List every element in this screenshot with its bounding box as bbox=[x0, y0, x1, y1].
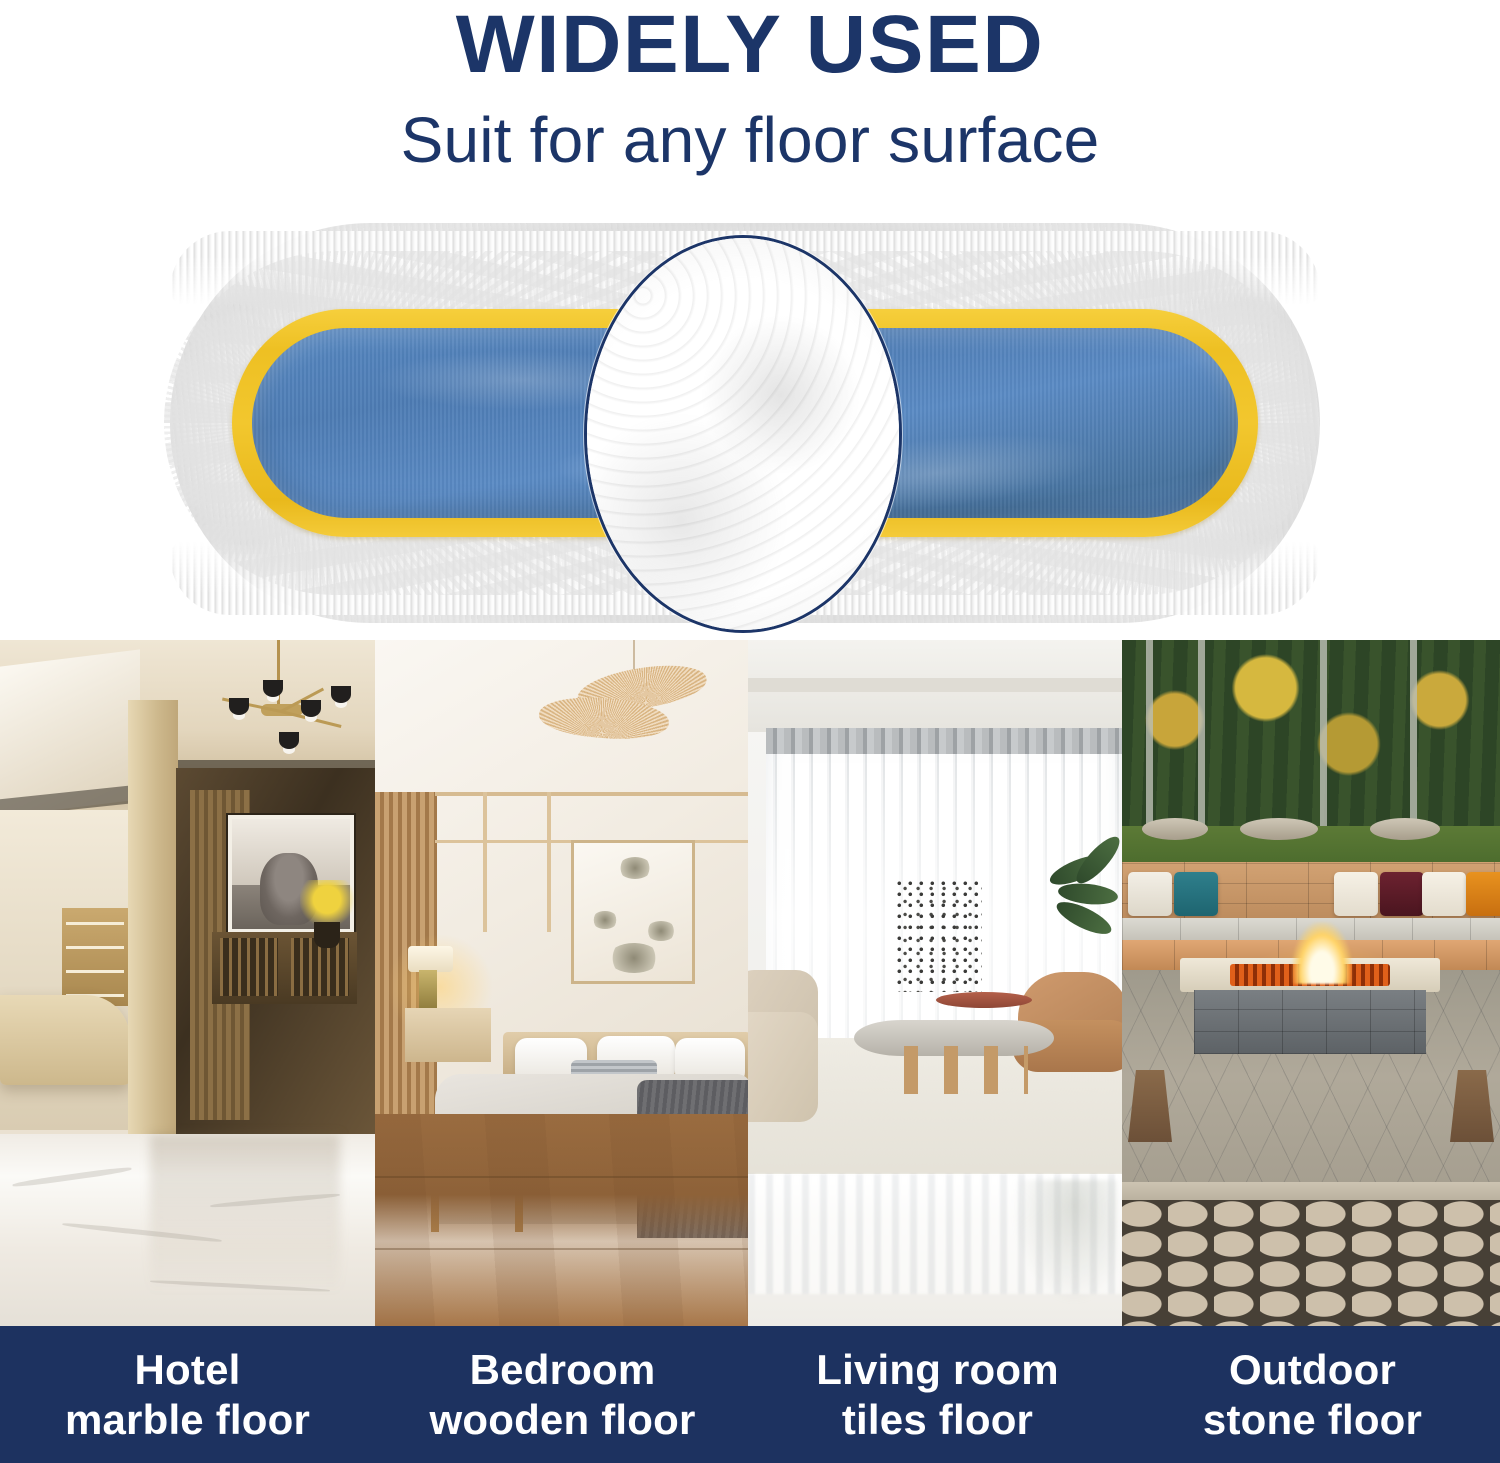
wooden-floor bbox=[375, 1114, 748, 1326]
birch-trunk bbox=[1146, 640, 1153, 840]
scene-label-hotel: Hotel marble floor bbox=[0, 1326, 375, 1463]
floor-seam bbox=[375, 1176, 748, 1178]
wall-trim bbox=[483, 792, 487, 932]
floor-seam bbox=[375, 1248, 748, 1250]
header-block: WIDELY USED Suit for any floor surface bbox=[0, 0, 1500, 210]
marble-floor bbox=[0, 1134, 375, 1326]
landscape-rock bbox=[1370, 818, 1440, 840]
glass-coffee-table bbox=[854, 1020, 1054, 1056]
throw-pillow bbox=[1128, 872, 1172, 916]
blind-track bbox=[766, 728, 1122, 754]
soffit bbox=[748, 678, 1122, 692]
throw-pillow bbox=[1174, 872, 1218, 916]
birch-trunk bbox=[1410, 640, 1417, 840]
autumn-forest bbox=[1122, 640, 1500, 840]
outdoor-patio-illustration bbox=[1122, 640, 1500, 1326]
scene-label-line2: tiles floor bbox=[842, 1395, 1033, 1445]
scene-photo-hotel bbox=[0, 640, 375, 1326]
ceiling bbox=[748, 640, 1122, 732]
scene-label-outdoor: Outdoor stone floor bbox=[1125, 1326, 1500, 1463]
sofa-seat bbox=[748, 1012, 818, 1122]
artwork-leaf bbox=[618, 857, 652, 879]
cobblestone-floor bbox=[1122, 1200, 1500, 1326]
table-lamp-base bbox=[419, 970, 437, 1010]
marble-pillar bbox=[128, 700, 178, 1140]
potted-plant bbox=[1048, 850, 1122, 982]
page-title: WIDELY USED bbox=[0, 0, 1500, 92]
table-legs bbox=[878, 1046, 1028, 1094]
yarn-shading bbox=[587, 238, 899, 630]
scene-label-living-room: Living room tiles floor bbox=[750, 1326, 1125, 1463]
flame bbox=[1292, 922, 1352, 984]
scene-label-line1: Living room bbox=[816, 1345, 1059, 1395]
scene-label-line2: stone floor bbox=[1203, 1395, 1422, 1445]
lotus-artwork bbox=[571, 840, 695, 984]
page-subtitle: Suit for any floor surface bbox=[0, 100, 1500, 180]
wall-trim bbox=[547, 792, 551, 932]
living-room-illustration bbox=[748, 640, 1122, 1326]
dust-mop-pad-image bbox=[170, 223, 1320, 623]
scene-label-line1: Outdoor bbox=[1229, 1345, 1396, 1395]
scene-photo-bedroom bbox=[375, 640, 748, 1326]
chandelier-shade bbox=[279, 732, 299, 749]
floor-reflection bbox=[150, 1134, 340, 1294]
scene-label-bar: Hotel marble floor Bedroom wooden floor … bbox=[0, 1326, 1500, 1463]
chandelier bbox=[205, 640, 365, 820]
scene-label-line1: Hotel bbox=[135, 1345, 241, 1395]
rattan-pendant-lamp bbox=[525, 668, 710, 746]
scene-photo-outdoor bbox=[1122, 640, 1500, 1326]
wall-trim bbox=[435, 792, 748, 796]
chandelier-rod bbox=[277, 640, 280, 710]
artwork-leaf bbox=[608, 943, 660, 973]
landscape-rock bbox=[1240, 818, 1318, 840]
landscape-rock bbox=[1142, 818, 1208, 840]
scene-photo-living-room bbox=[748, 640, 1122, 1326]
console-grille bbox=[220, 938, 278, 996]
bedroom-illustration bbox=[375, 640, 748, 1326]
artwork-leaf bbox=[646, 921, 676, 941]
widely-used-marketing-panel: WIDELY USED Suit for any floor surface bbox=[0, 0, 1500, 1463]
nightstand bbox=[405, 1008, 491, 1062]
plant-reflection bbox=[1008, 1180, 1118, 1310]
hotel-lobby-illustration bbox=[0, 640, 375, 1326]
scene-label-line2: wooden floor bbox=[429, 1395, 695, 1445]
side-table bbox=[936, 992, 1032, 1008]
throw-pillow bbox=[1422, 872, 1466, 916]
scene-photo-strip bbox=[0, 640, 1500, 1326]
table-lamp-shade bbox=[408, 946, 453, 972]
chandelier-shade bbox=[263, 680, 283, 697]
birch-trunk bbox=[1320, 640, 1327, 840]
lounge-armchair bbox=[1018, 972, 1122, 1068]
scene-label-bedroom: Bedroom wooden floor bbox=[375, 1326, 750, 1463]
throw-pillow bbox=[1380, 872, 1424, 916]
scene-label-line1: Bedroom bbox=[470, 1345, 656, 1395]
chandelier-shade bbox=[301, 700, 321, 717]
chandelier-shade bbox=[331, 686, 351, 703]
artwork-leaf bbox=[592, 911, 618, 929]
marble-vein bbox=[12, 1166, 132, 1189]
vase bbox=[314, 922, 340, 948]
reception-counter bbox=[0, 995, 130, 1085]
throw-pillow bbox=[1466, 872, 1500, 916]
birch-trunk bbox=[1198, 640, 1205, 840]
product-hero bbox=[0, 205, 1500, 640]
fire-pit-base bbox=[1194, 990, 1426, 1054]
wine-shelf bbox=[62, 908, 128, 1006]
chandelier-shade bbox=[229, 698, 249, 715]
magnifier-circle-icon bbox=[584, 235, 902, 633]
fire-pit bbox=[1180, 958, 1440, 1062]
scene-label-line2: marble floor bbox=[65, 1395, 310, 1445]
glossy-tile-floor bbox=[748, 1174, 1122, 1326]
branch-arrangement bbox=[896, 880, 982, 992]
throw-pillow bbox=[1334, 872, 1378, 916]
